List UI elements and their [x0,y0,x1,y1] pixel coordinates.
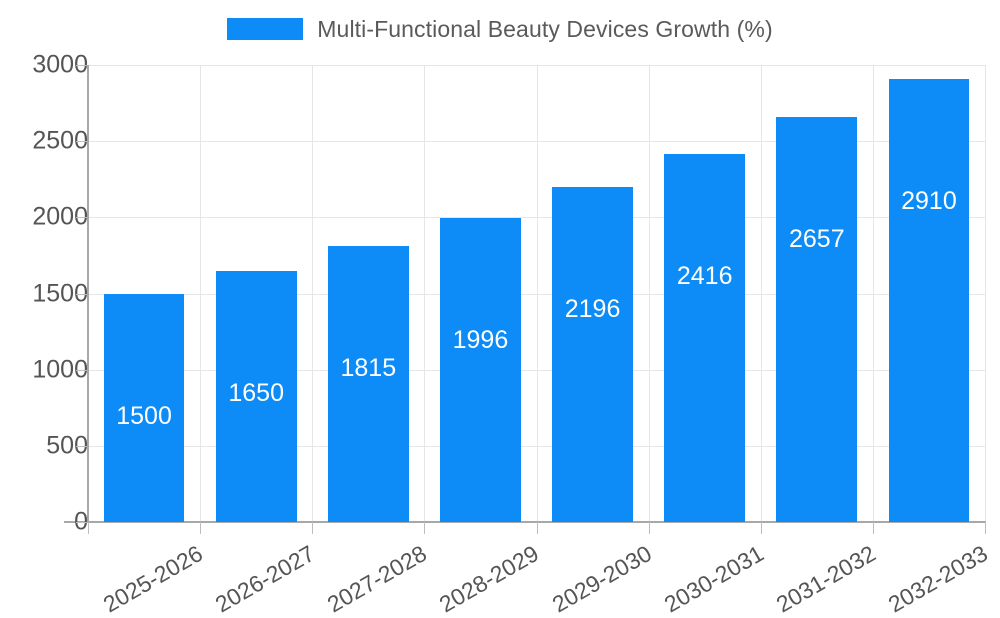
x-tick-mark-8 [985,522,986,534]
x-tick-mark-6 [761,522,762,534]
y-tick-mark-2 [76,370,87,371]
bar-band: 1500 [88,65,200,522]
y-tick-mark-6 [76,65,87,66]
y-tick-mark-5 [76,141,87,142]
chart-legend: Multi-Functional Beauty Devices Growth (… [0,10,1000,48]
bar[interactable]: 2416 [664,154,745,522]
x-tick-label-2: 2027-2028 [323,540,432,618]
y-axis-ticks: 050010001500200025003000 [0,0,88,600]
x-tick-mark-5 [649,522,650,534]
x-tick-mark-2 [312,522,313,534]
x-tick-mark-7 [873,522,874,534]
bar[interactable]: 2196 [552,187,633,522]
bar-value-label: 1500 [104,402,185,431]
bar-band: 2416 [649,65,761,522]
x-tick-label-6: 2031-2032 [772,540,881,618]
gridline-vertical-8 [985,65,986,522]
bar-band: 1996 [424,65,536,522]
x-tick-mark-4 [537,522,538,534]
x-tick-label-0: 2025-2026 [99,540,208,618]
y-tick-mark-3 [76,294,87,295]
bar-value-label: 1815 [328,354,409,383]
x-tick-label-1: 2026-2027 [211,540,320,618]
legend-swatch-icon [227,18,303,40]
bar-band: 2657 [761,65,873,522]
bar[interactable]: 1996 [440,218,521,522]
bar[interactable]: 2657 [776,117,857,522]
bar[interactable]: 1500 [104,294,185,523]
bar-value-label: 2657 [776,225,857,254]
x-tick-mark-1 [200,522,201,534]
bar-band: 1815 [312,65,424,522]
bar-value-label: 2196 [552,295,633,324]
x-tick-label-7: 2032-2033 [884,540,993,618]
bar-value-label: 1650 [216,379,297,408]
x-tick-label-3: 2028-2029 [435,540,544,618]
y-tick-mark-0 [76,522,87,523]
x-tick-mark-3 [424,522,425,534]
bar[interactable]: 1650 [216,271,297,522]
bar-chart: Multi-Functional Beauty Devices Growth (… [0,0,1000,600]
y-tick-mark-1 [76,446,87,447]
bar-value-label: 2910 [889,187,970,216]
bar-band: 1650 [200,65,312,522]
legend-item-0[interactable]: Multi-Functional Beauty Devices Growth (… [227,16,772,43]
x-tick-label-5: 2030-2031 [659,540,768,618]
x-tick-label-4: 2029-2030 [547,540,656,618]
bar[interactable]: 2910 [889,79,970,522]
bar-band: 2196 [537,65,649,522]
bar-band: 2910 [873,65,985,522]
x-tick-mark-0 [88,522,89,534]
y-tick-mark-4 [76,217,87,218]
legend-label-0: Multi-Functional Beauty Devices Growth (… [317,16,772,43]
bar-value-label: 2416 [664,262,745,291]
bar-value-label: 1996 [440,326,521,355]
bar-series: 15001650181519962196241626572910 [88,65,985,522]
bar[interactable]: 1815 [328,246,409,522]
